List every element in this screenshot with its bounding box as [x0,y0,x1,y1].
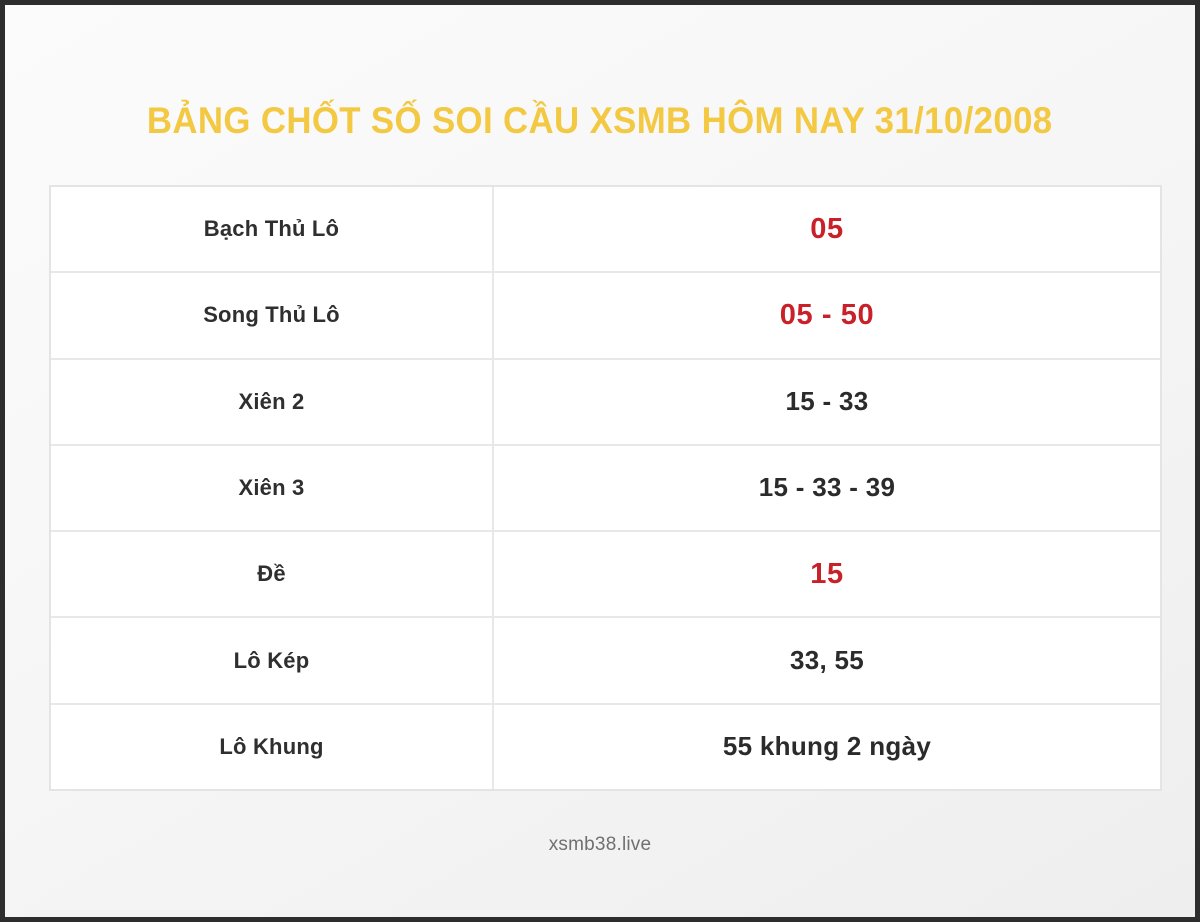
row-label: Lô Kép [51,618,494,702]
page-frame: BẢNG CHỐT SỐ SOI CẦU XSMB HÔM NAY 31/10/… [0,0,1200,922]
table-row: Song Thủ Lô05 - 50 [51,273,1160,359]
row-value: 55 khung 2 ngày [494,705,1160,789]
row-value: 33, 55 [494,618,1160,702]
row-label: Lô Khung [51,705,494,789]
table-row: Lô Khung55 khung 2 ngày [51,705,1160,789]
row-value: 15 - 33 - 39 [494,446,1160,530]
row-label: Song Thủ Lô [51,273,494,357]
page-footer: xsmb38.live [5,825,1195,865]
table-row: Lô Kép33, 55 [51,618,1160,704]
page-background: BẢNG CHỐT SỐ SOI CẦU XSMB HÔM NAY 31/10/… [5,5,1195,917]
table-row: Xiên 215 - 33 [51,360,1160,446]
table-row: Đề15 [51,532,1160,618]
row-label: Xiên 3 [51,446,494,530]
row-value: 05 [494,187,1160,271]
row-label: Đề [51,532,494,616]
table-row: Xiên 315 - 33 - 39 [51,446,1160,532]
site-watermark: xsmb38.live [549,834,652,856]
row-value: 15 - 33 [494,360,1160,444]
row-value: 05 - 50 [494,273,1160,357]
page-header: BẢNG CHỐT SỐ SOI CẦU XSMB HÔM NAY 31/10/… [5,91,1195,151]
page-title: BẢNG CHỐT SỐ SOI CẦU XSMB HÔM NAY 31/10/… [147,100,1053,142]
soi-cau-table: Bạch Thủ Lô05Song Thủ Lô05 - 50Xiên 215 … [49,185,1162,791]
row-value: 15 [494,532,1160,616]
table-row: Bạch Thủ Lô05 [51,187,1160,273]
row-label: Xiên 2 [51,360,494,444]
row-label: Bạch Thủ Lô [51,187,494,271]
